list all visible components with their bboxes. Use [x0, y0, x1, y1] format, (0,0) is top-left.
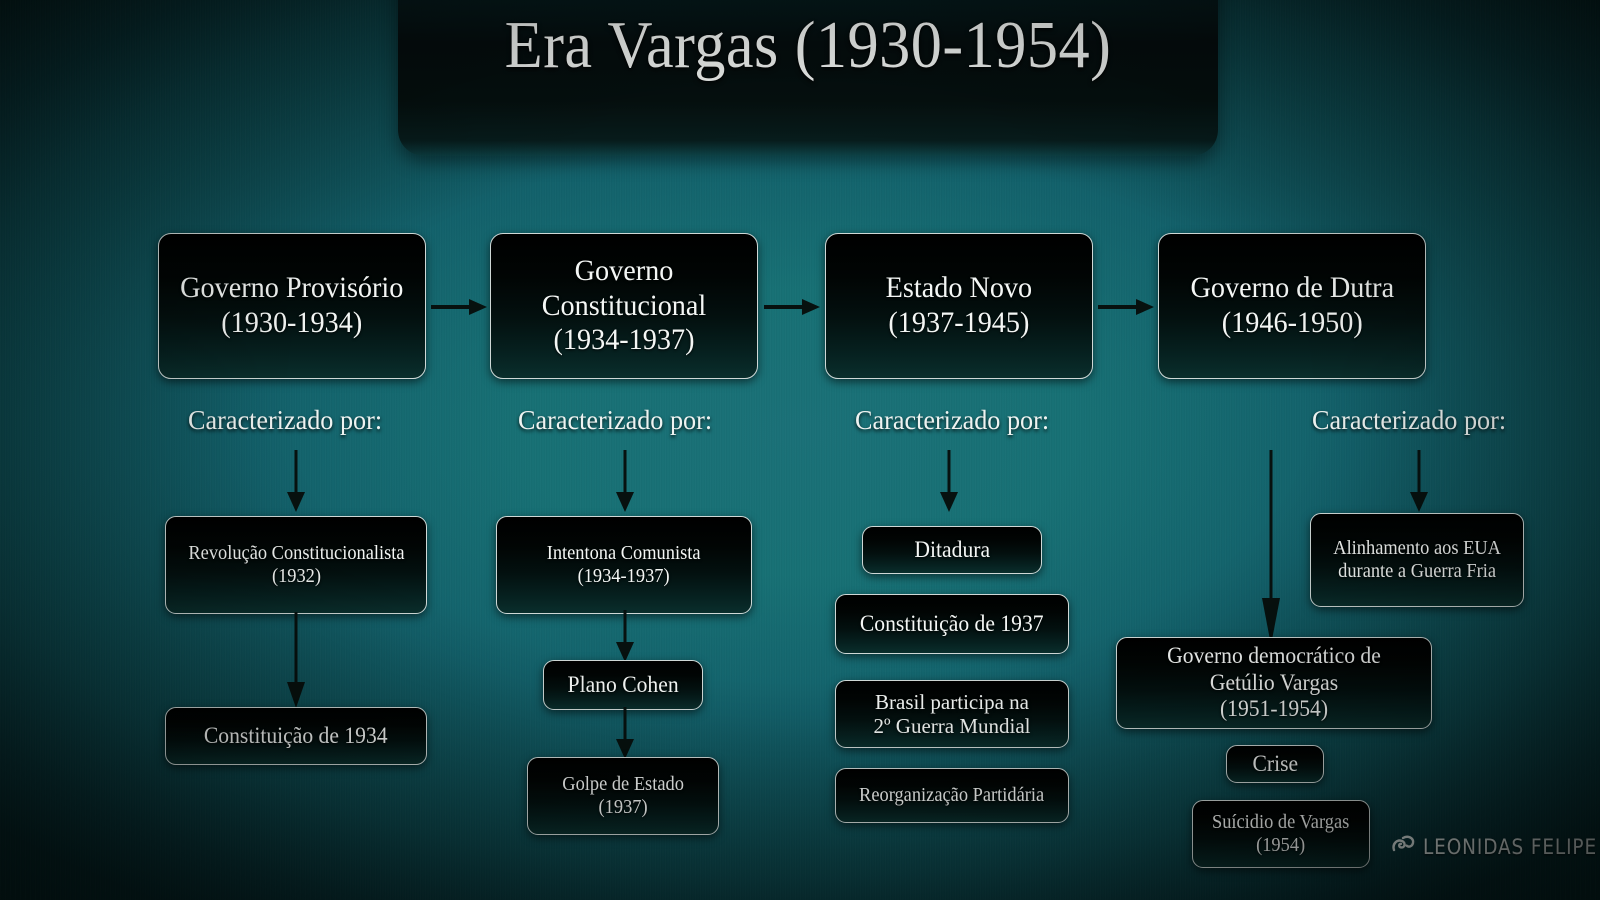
item-line2: durante a Guerra Fria [1333, 560, 1501, 583]
arrow-provisorio-to-constitucional [431, 296, 487, 318]
caption-governo-provisorio: Caracterizado por: [188, 405, 382, 436]
item-line2: (1937) [562, 796, 684, 819]
item-line1: Constituição de 1937 [860, 611, 1044, 638]
item-line2: (1932) [188, 565, 404, 588]
head-line2: (1930-1934) [180, 306, 403, 341]
item-line2: (1954) [1212, 834, 1349, 857]
item-box-golpe-de-estado: Golpe de Estado (1937) [527, 757, 719, 835]
item-line2: (1934-1937) [547, 565, 701, 588]
arrow-caption-to-item-col2 [612, 450, 638, 512]
item-line1: Golpe de Estado [562, 773, 684, 796]
item-box-reorganizacao-partidaria: Reorganização Partidária [835, 768, 1069, 823]
arrow-caption-to-item-col1 [283, 450, 309, 512]
item-box-constituicao-1937: Constituição de 1937 [835, 594, 1069, 654]
watermark: LEONIDAS FELIPE [1390, 832, 1600, 861]
head-line1: Governo de Dutra [1190, 271, 1394, 306]
title-banner: Era Vargas (1930-1954) [398, 0, 1218, 156]
swirl-logo-icon [1390, 832, 1416, 861]
caption-governo-constitucional: Caracterizado por: [518, 405, 712, 436]
arrow-dutra-to-governo-democratico [1258, 450, 1284, 645]
item-line2: 2º Guerra Mundial [874, 714, 1031, 738]
head-line1: Governo Constitucional [507, 254, 742, 324]
item-box-suicidio-de-vargas: Suícidio de Vargas (1954) [1192, 800, 1370, 868]
watermark-text: LEONIDAS FELIPE [1423, 835, 1597, 859]
head-box-estado-novo: Estado Novo (1937-1945) [825, 233, 1093, 379]
item-line1: Brasil participa na [874, 690, 1031, 714]
item-box-revolucao-constitucionalista: Revolução Constitucionalista (1932) [165, 516, 427, 614]
head-line1: Governo Provisório [180, 271, 403, 306]
item-line1: Intentona Comunista [547, 542, 701, 565]
head-line2: (1937-1945) [886, 306, 1032, 341]
page-title: Era Vargas (1930-1954) [427, 12, 1190, 79]
item-box-plano-cohen: Plano Cohen [543, 660, 703, 710]
item-line1: Plano Cohen [567, 672, 678, 699]
item-box-intentona-comunista: Intentona Comunista (1934-1937) [496, 516, 752, 614]
item-line1: Suícidio de Vargas [1212, 811, 1349, 834]
item-box-crise: Crise [1226, 745, 1324, 783]
head-line2: (1946-1950) [1190, 306, 1394, 341]
item-box-alinhamento-eua: Alinhamento aos EUA durante a Guerra Fri… [1310, 513, 1524, 607]
arrow-col1-item1-to-item2 [283, 612, 309, 708]
head-line2: (1934-1937) [507, 323, 742, 358]
infographic-canvas: Era Vargas (1930-1954) Governo Provisóri… [0, 0, 1600, 900]
item-line1: Revolução Constitucionalista [188, 542, 404, 565]
arrow-caption-to-item-col3 [936, 450, 962, 512]
item-box-governo-democratico-getulio-vargas: Governo democrático de Getúlio Vargas (1… [1116, 637, 1432, 729]
item-box-ditadura: Ditadura [862, 526, 1042, 574]
caption-governo-de-dutra: Caracterizado por: [1312, 405, 1506, 436]
arrow-caption-to-item-col4 [1406, 450, 1432, 512]
caption-estado-novo: Caracterizado por: [855, 405, 1049, 436]
arrow-constitucional-to-estado-novo [764, 296, 820, 318]
item-line1: Ditadura [914, 537, 990, 564]
head-box-governo-provisorio: Governo Provisório (1930-1934) [158, 233, 426, 379]
item-line1: Reorganização Partidária [859, 784, 1044, 807]
arrow-col2-item1-to-item2 [612, 610, 638, 662]
item-box-brasil-2-guerra-mundial: Brasil participa na 2º Guerra Mundial [835, 680, 1069, 748]
item-line1: Alinhamento aos EUA [1333, 537, 1501, 560]
head-box-governo-de-dutra: Governo de Dutra (1946-1950) [1158, 233, 1426, 379]
item-line1: Governo democrático de Getúlio Vargas [1134, 643, 1414, 696]
arrow-col2-item2-to-item3 [612, 707, 638, 759]
item-line1: Crise [1252, 751, 1298, 778]
head-line1: Estado Novo [886, 271, 1032, 306]
item-line1: Constituição de 1934 [204, 723, 388, 750]
item-box-constituicao-1934: Constituição de 1934 [165, 707, 427, 765]
arrow-estado-novo-to-dutra [1098, 296, 1154, 318]
item-line2: (1951-1954) [1134, 696, 1414, 723]
head-box-governo-constitucional: Governo Constitucional (1934-1937) [490, 233, 758, 379]
